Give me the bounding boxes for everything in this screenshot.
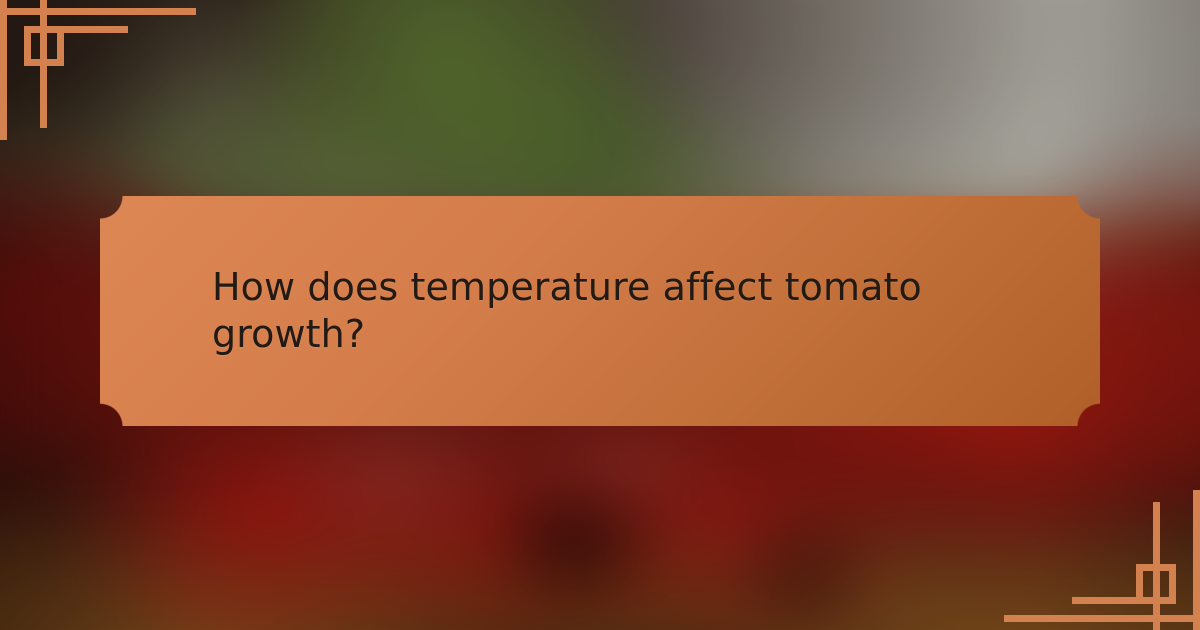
question-title: How does temperature affect tomato growt… <box>100 264 1100 359</box>
question-card: How does temperature affect tomato growt… <box>100 196 1100 426</box>
social-card-canvas: How does temperature affect tomato growt… <box>0 0 1200 630</box>
